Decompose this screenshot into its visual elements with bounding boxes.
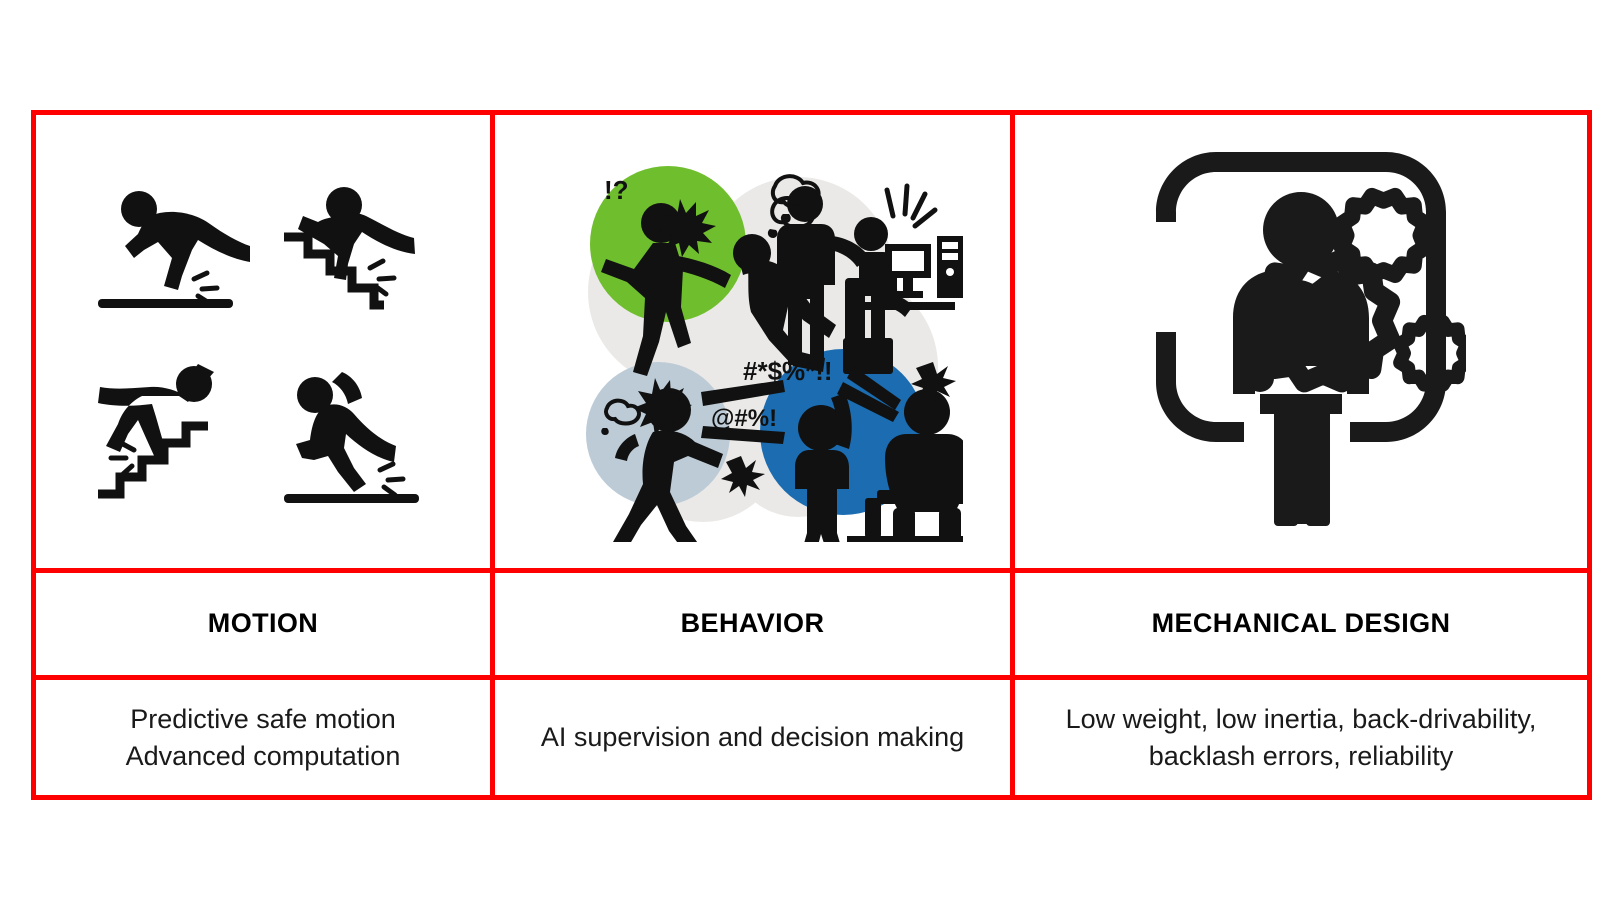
column-title-mechanical-design: MECHANICAL DESIGN [1015, 609, 1587, 639]
cell-description-motion: Predictive safe motion Advanced computat… [34, 678, 493, 798]
column-title-behavior: BEHAVIOR [495, 609, 1010, 639]
person-with-gears-icon [1015, 115, 1587, 568]
column-title-motion: MOTION [36, 609, 490, 639]
workplace-harassment-pictograms-icon: !? [495, 115, 1010, 568]
table-row-titles: MOTION BEHAVIOR MECHANICAL DESIGN [34, 571, 1590, 678]
table-row-icons: !? [34, 113, 1590, 571]
svg-text:@#%!: @#%! [711, 405, 777, 432]
cell-icon-behavior: !? [493, 113, 1013, 571]
cell-title-behavior: BEHAVIOR [493, 571, 1013, 678]
table-row-descriptions: Predictive safe motion Advanced computat… [34, 678, 1590, 798]
cell-title-mechanical-design: MECHANICAL DESIGN [1013, 571, 1590, 678]
column-description-behavior: AI supervision and decision making [495, 719, 1010, 755]
comparison-table: !? [31, 110, 1592, 800]
slip-trip-fall-pictograms-icon [36, 115, 490, 568]
column-description-motion: Predictive safe motion Advanced computat… [36, 701, 490, 774]
cell-description-behavior: AI supervision and decision making [493, 678, 1013, 798]
svg-text:!?: !? [604, 175, 629, 205]
figure-canvas: !? [0, 0, 1600, 900]
cell-icon-mechanical-design [1013, 113, 1590, 571]
cell-icon-motion [34, 113, 493, 571]
cell-title-motion: MOTION [34, 571, 493, 678]
svg-text:#*$%*!!: #*$%*!! [743, 356, 833, 386]
column-description-mechanical-design: Low weight, low inertia, back-drivabilit… [1015, 701, 1587, 774]
cell-description-mechanical-design: Low weight, low inertia, back-drivabilit… [1013, 678, 1590, 798]
